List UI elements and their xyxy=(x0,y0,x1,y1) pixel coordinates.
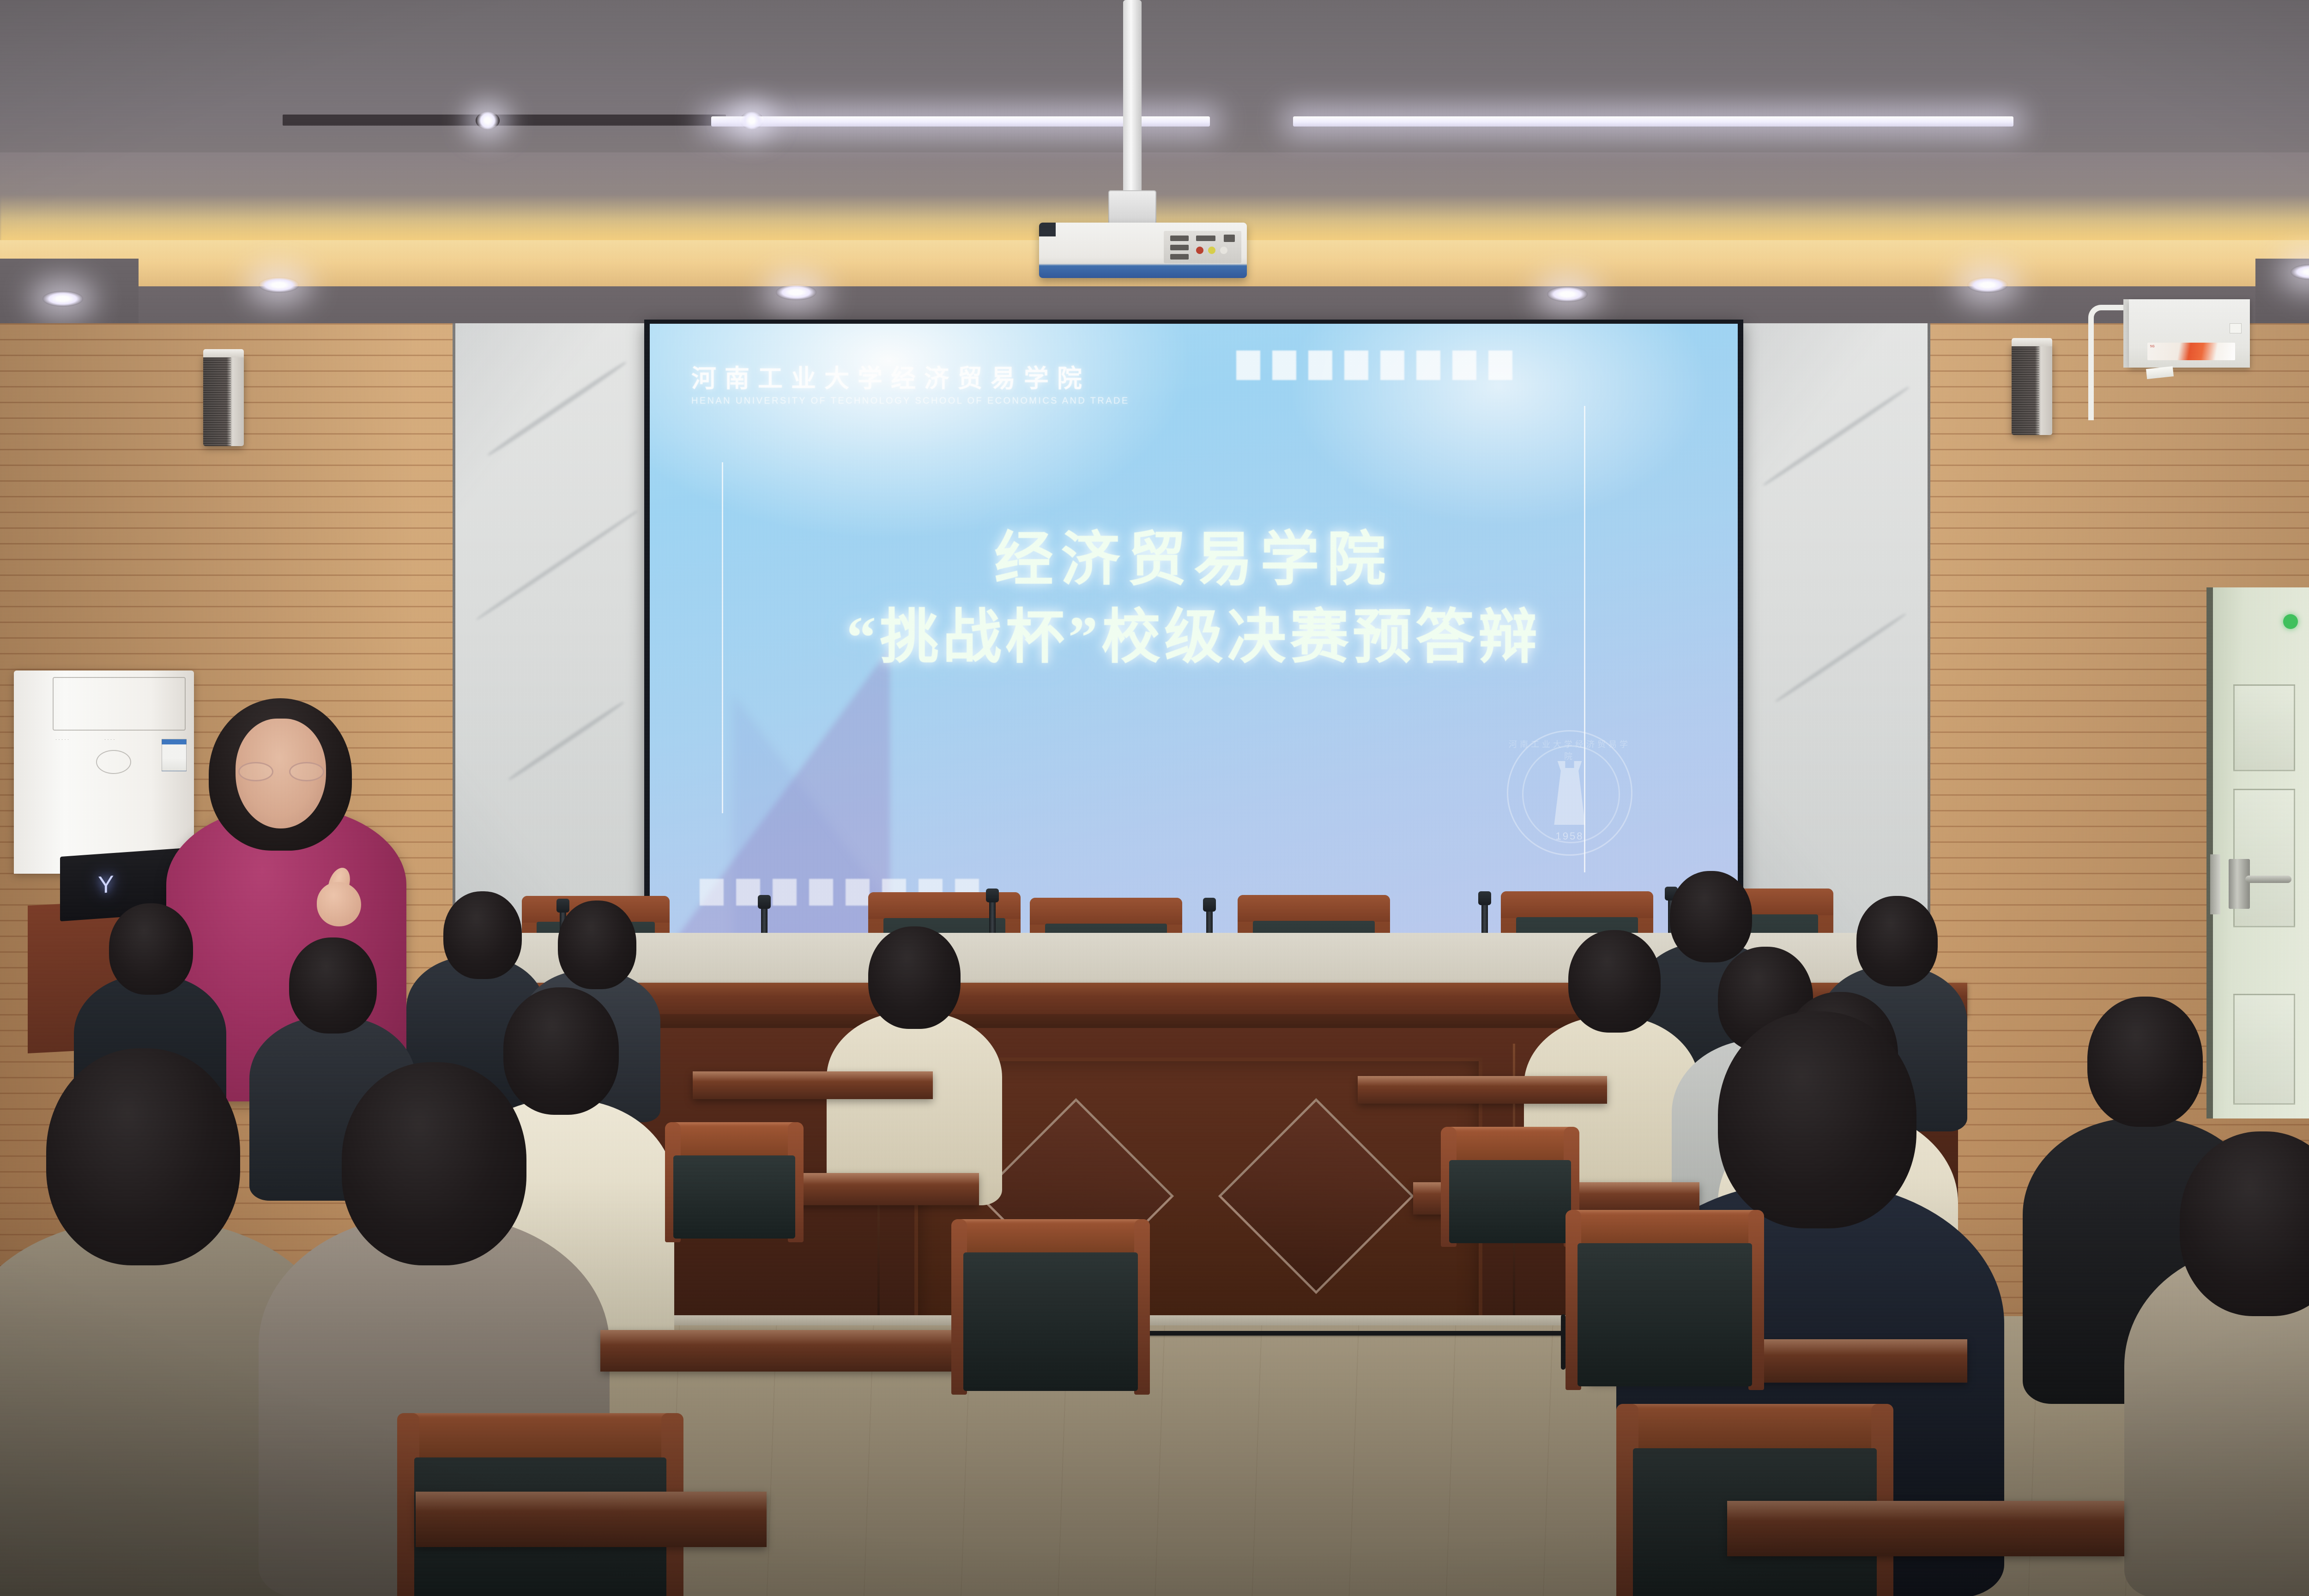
slide-org-header-cn: 河南工业大学经济贸易学院 xyxy=(691,366,1264,391)
light-channel xyxy=(283,115,726,126)
audience-chair[interactable] xyxy=(1566,1210,1764,1390)
downlight-icon xyxy=(259,277,299,293)
exit-indicator-icon xyxy=(2283,614,2298,629)
wall-outlet xyxy=(2230,323,2242,333)
audience-desk xyxy=(1358,1076,1607,1104)
seal-ring-text: 河南工业大学经济贸易学院 xyxy=(1508,738,1631,762)
door-escutcheon xyxy=(2210,854,2220,914)
ac-dial-icon xyxy=(96,750,131,774)
marble-panel-right xyxy=(1736,323,1930,979)
downlight-icon xyxy=(740,112,764,129)
door-lever-icon[interactable] xyxy=(2245,876,2291,883)
audience-chair[interactable] xyxy=(1441,1127,1579,1247)
presenter-hand xyxy=(317,882,361,926)
slide-org-header: 河南工业大学经济贸易学院 HENAN UNIVERSITY OF TECHNOL… xyxy=(691,366,1264,406)
cabinet-poster-text: 5G xyxy=(2150,345,2155,348)
wall-speaker-left xyxy=(203,354,244,446)
seal-bell-icon xyxy=(1542,756,1597,825)
downlight-icon xyxy=(776,284,816,300)
audience-desk xyxy=(600,1330,970,1372)
audience-chair[interactable] xyxy=(951,1219,1150,1395)
projector-port-panel xyxy=(1164,231,1241,263)
slide-decor-squares-top xyxy=(1236,351,1512,380)
laptop-logo-icon: Y xyxy=(98,872,114,897)
audience-desk xyxy=(693,1071,933,1099)
audience-desk xyxy=(1727,1501,2124,1556)
slide-title: 经济贸易学院 “挑战杯”校级决赛预答辩 xyxy=(650,522,1738,677)
room-door[interactable] xyxy=(2206,587,2309,1118)
wall-speaker-right xyxy=(2012,343,2052,435)
lecture-hall-scene: 河南工业大学经济贸易学院 HENAN UNIVERSITY OF TECHNOL… xyxy=(0,0,2309,1596)
marble-panel-left xyxy=(453,323,651,979)
downlight-icon xyxy=(1967,277,2008,293)
door-handle[interactable] xyxy=(2229,859,2250,909)
presenter-glasses-icon xyxy=(238,762,324,781)
university-seal-icon: 河南工业大学经济贸易学院 1958 xyxy=(1507,730,1632,856)
cabinet-poster: 5G xyxy=(2147,343,2235,360)
downlight-icon xyxy=(476,112,500,129)
wall-conduit xyxy=(2088,305,2129,420)
slide-title-line1: 经济贸易学院 xyxy=(650,522,1738,598)
slide-title-line2: “挑战杯”校级决赛预答辩 xyxy=(650,598,1738,677)
seal-year: 1958 xyxy=(1508,830,1631,842)
ac-energy-label xyxy=(162,739,187,771)
projector-lens-housing xyxy=(1039,223,1056,236)
downlight-icon xyxy=(1547,286,1588,302)
audience-chair[interactable] xyxy=(1616,1404,1893,1596)
audience-chair[interactable] xyxy=(665,1122,804,1242)
audience-desk xyxy=(416,1492,767,1547)
ac-vent-panel xyxy=(53,677,186,731)
slide-org-header-en: HENAN UNIVERSITY OF TECHNOLOGY SCHOOL OF… xyxy=(691,396,1264,406)
downlight-icon xyxy=(42,291,83,307)
air-conditioner-unit: · · · · · · · · · xyxy=(14,671,194,874)
fluorescent-strip-light-2 xyxy=(1293,116,2013,127)
floor-cable-branch xyxy=(1561,1314,1566,1370)
projection-screen: 河南工业大学经济贸易学院 HENAN UNIVERSITY OF TECHNOL… xyxy=(650,324,1738,943)
projection-screen-frame: 河南工业大学经济贸易学院 HENAN UNIVERSITY OF TECHNOL… xyxy=(644,320,1743,948)
projector-mount-pole xyxy=(1123,0,1142,199)
